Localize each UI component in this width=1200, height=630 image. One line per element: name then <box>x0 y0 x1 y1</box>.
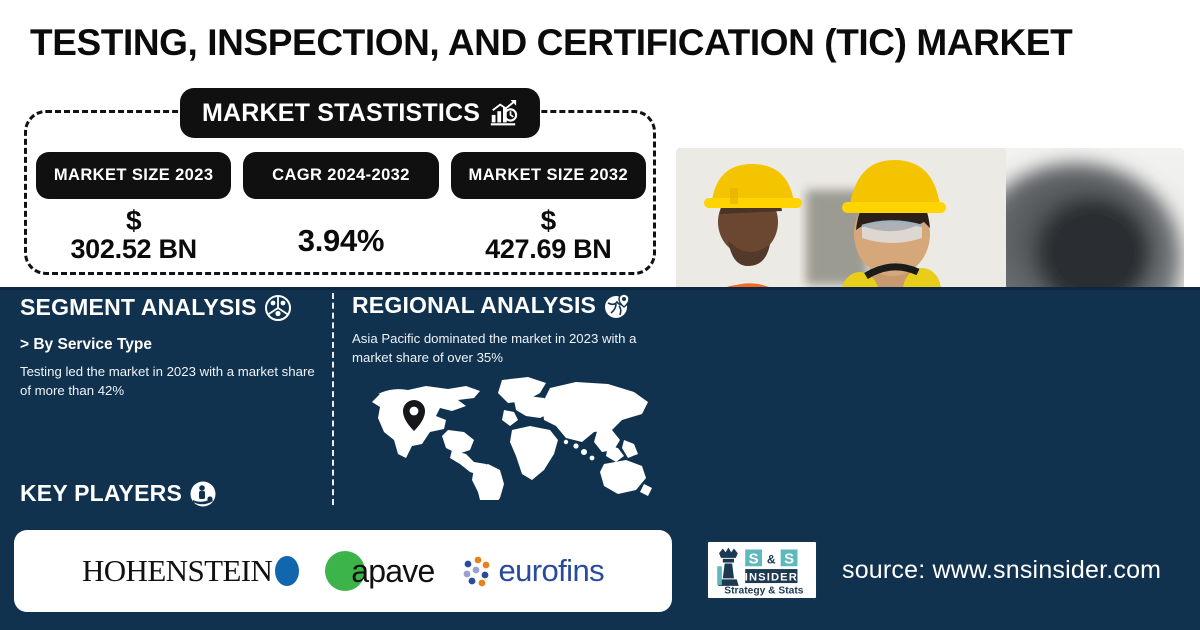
stat-value: $ 302.52 BN <box>36 207 231 263</box>
segment-body-text: Testing led the market in 2023 with a ma… <box>20 363 320 400</box>
stat-currency: $ <box>451 207 646 236</box>
logo-hohenstein-text: HOHENSTEIN <box>82 553 272 589</box>
page-title: TESTING, INSPECTION, AND CERTIFICATION (… <box>30 22 1170 64</box>
svg-text:S: S <box>784 550 794 567</box>
key-players-card: HOHENSTEIN apave eurofins <box>14 530 672 612</box>
section-divider <box>332 293 334 505</box>
globe-pin-icon <box>604 293 630 319</box>
source-row: S S & INSIDER Strategy & Stats source: w… <box>706 540 1161 600</box>
stat-head: CAGR 2024-2032 <box>243 152 438 199</box>
svg-text:&: & <box>767 552 776 566</box>
stat-currency: $ <box>36 207 231 236</box>
logo-eurofins-text: eurofins <box>499 553 605 589</box>
key-players-title: KEY PLAYERS <box>20 480 216 507</box>
person-on-hand-icon <box>190 481 216 507</box>
svg-text:INSIDER: INSIDER <box>745 571 798 583</box>
regional-analysis-title: REGIONAL ANALYSIS <box>352 292 630 319</box>
stat-amount: 302.52 BN <box>70 234 196 264</box>
logo-hohenstein-dot-icon <box>275 556 299 586</box>
regional-body-text: Asia Pacific dominated the market in 202… <box>352 330 644 367</box>
pie-segment-icon <box>265 295 291 321</box>
world-map <box>352 372 664 500</box>
stat-amount: 427.69 BN <box>485 234 611 264</box>
sns-insider-logo: S S & INSIDER Strategy & Stats <box>706 540 818 600</box>
stat-head: MARKET SIZE 2032 <box>451 152 646 199</box>
stat-column-market-size-2023: MARKET SIZE 2023 $ 302.52 BN <box>36 152 231 263</box>
stat-value: $ 427.69 BN <box>451 207 646 263</box>
svg-text:S: S <box>749 550 759 567</box>
svg-text:Strategy & Stats: Strategy & Stats <box>724 585 803 596</box>
infographic-canvas: TESTING, INSPECTION, AND CERTIFICATION (… <box>0 0 1200 630</box>
navy-top-edge <box>0 287 1200 290</box>
segment-subhead: > By Service Type <box>20 336 152 354</box>
regional-analysis-label: REGIONAL ANALYSIS <box>352 292 596 319</box>
market-statistics-label: MARKET STASTISTICS <box>202 99 480 128</box>
stat-amount: 3.94% <box>298 223 384 258</box>
source-text: source: www.snsinsider.com <box>842 556 1161 585</box>
market-statistics-header: MARKET STASTISTICS <box>180 88 540 138</box>
segment-analysis-label: SEGMENT ANALYSIS <box>20 294 257 321</box>
stat-column-market-size-2032: MARKET SIZE 2032 $ 427.69 BN <box>451 152 646 263</box>
logo-eurofins[interactable]: eurofins <box>461 553 605 589</box>
logo-eurofins-dot-cluster-icon <box>461 555 493 587</box>
market-statistics-columns: MARKET SIZE 2023 $ 302.52 BN CAGR 2024-2… <box>36 152 646 263</box>
logo-apave[interactable]: apave <box>325 551 434 591</box>
segment-analysis-title: SEGMENT ANALYSIS <box>20 294 291 321</box>
logo-apave-text: apave <box>351 553 434 590</box>
stat-column-cagr: CAGR 2024-2032 3.94% <box>243 152 438 263</box>
stat-head: MARKET SIZE 2023 <box>36 152 231 199</box>
stat-value: 3.94% <box>243 207 438 257</box>
bar-chart-growth-icon <box>488 99 518 127</box>
logo-hohenstein[interactable]: HOHENSTEIN <box>82 553 299 589</box>
key-players-label: KEY PLAYERS <box>20 480 182 507</box>
